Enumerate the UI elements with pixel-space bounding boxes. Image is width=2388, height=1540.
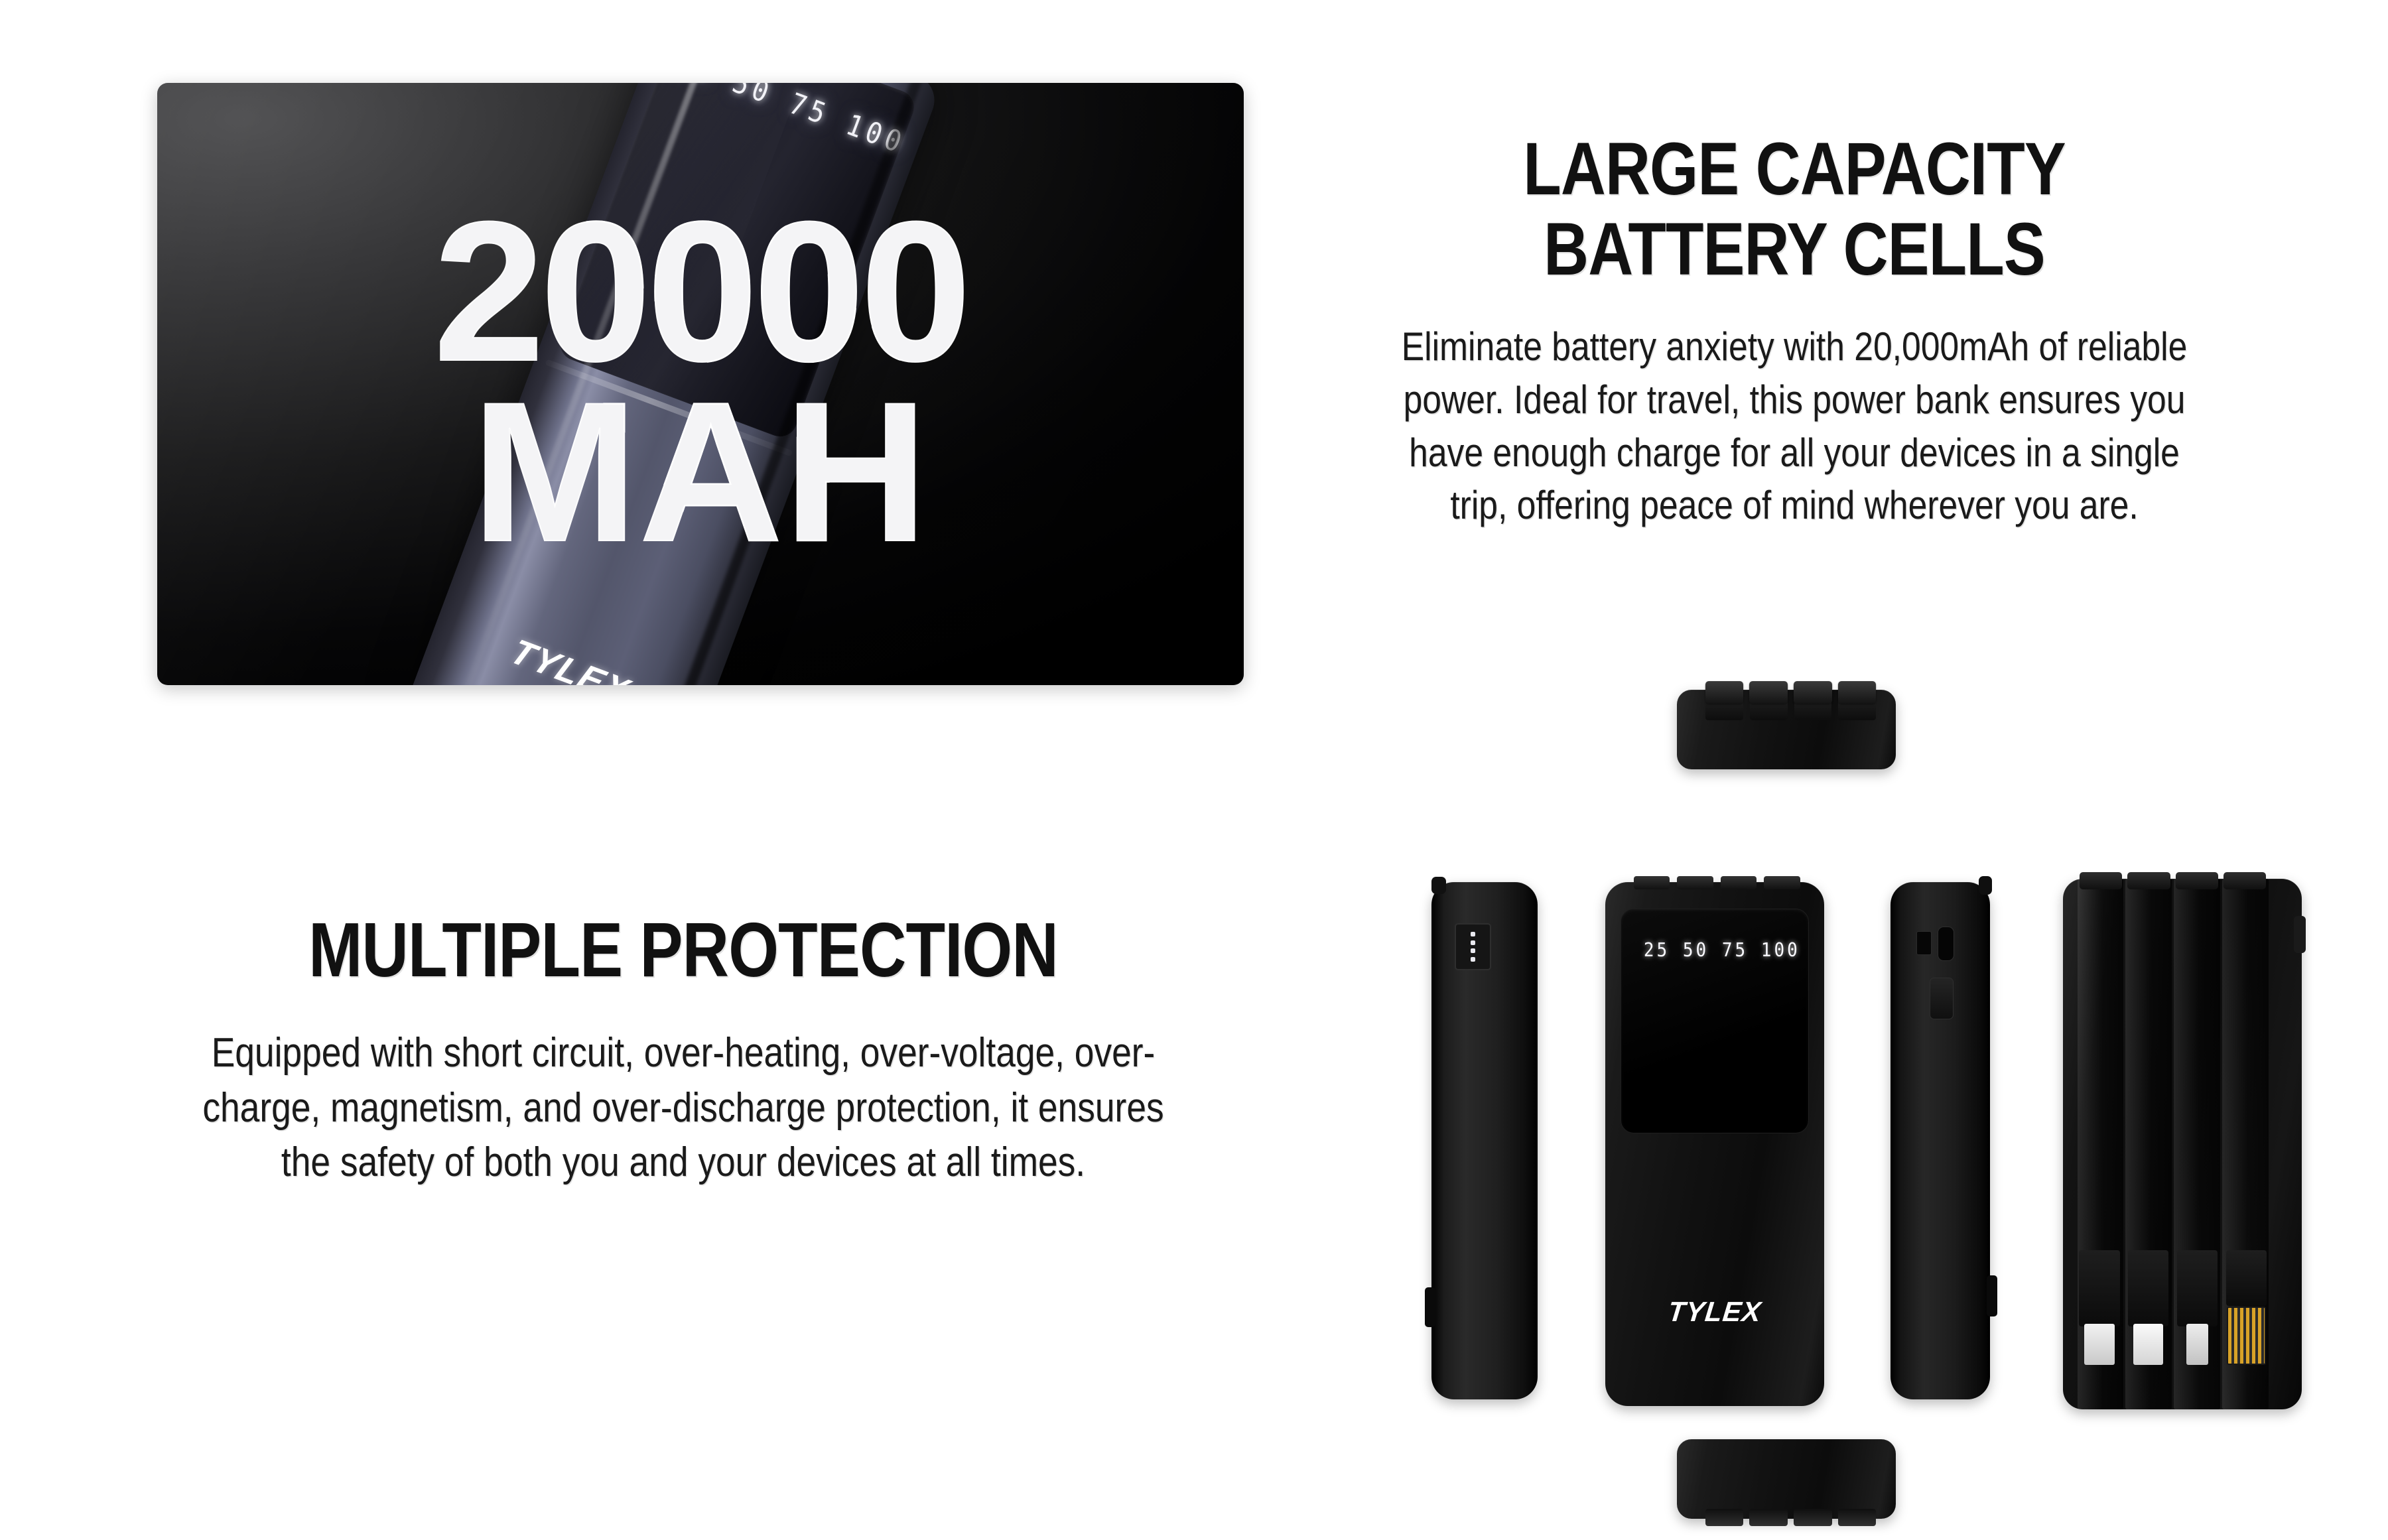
multiple-protection-body: Equipped with short circuit, over-heatin… bbox=[198, 1026, 1168, 1190]
power-button[interactable] bbox=[1930, 978, 1954, 1019]
back-view-clip bbox=[2294, 916, 2306, 953]
product-views-cluster: 25 50 75 100 TYLEX bbox=[1413, 690, 2342, 1519]
multiple-protection-section: MULTIPLE PROTECTION Equipped with short … bbox=[119, 909, 1247, 1190]
product-view-front: 25 50 75 100 TYLEX bbox=[1605, 882, 1824, 1406]
usb-c-port-icon bbox=[1938, 927, 1955, 960]
right-side-clip bbox=[1979, 876, 1992, 895]
multiple-protection-title: MULTIPLE PROTECTION bbox=[210, 909, 1157, 992]
back-view-top-tabs bbox=[2080, 872, 2266, 889]
large-capacity-body: Eliminate battery anxiety with 20,000mAh… bbox=[1386, 320, 2202, 532]
product-view-right-side bbox=[1890, 882, 1990, 1399]
front-battery-level-indicator: 25 50 75 100 bbox=[1644, 939, 1800, 961]
micro-usb-port-icon bbox=[1916, 931, 1932, 955]
large-capacity-section: LARGE CAPACITY BATTERY CELLS Eliminate b… bbox=[1320, 129, 2269, 532]
product-view-bottom bbox=[1677, 1439, 1896, 1519]
product-view-top bbox=[1677, 690, 1896, 769]
back-view-builtin-cables bbox=[2078, 1250, 2269, 1378]
bottom-view-shell bbox=[1677, 1439, 1896, 1519]
bottom-view-cable-tabs bbox=[1705, 1509, 1876, 1526]
left-side-clip bbox=[1431, 877, 1446, 894]
large-capacity-title-line1: LARGE CAPACITY bbox=[1396, 129, 2192, 210]
usb-c-cable-icon bbox=[2126, 1250, 2170, 1378]
left-side-cable-nub bbox=[1425, 1287, 1435, 1327]
front-brand-logo: TYLEX bbox=[1603, 1296, 1825, 1328]
usb-a-connector-icon bbox=[2224, 1250, 2269, 1378]
large-capacity-title: LARGE CAPACITY BATTERY CELLS bbox=[1396, 129, 2192, 290]
hero-capacity-card: 25 50 75 100 TYLEX 20000 20000 MAH MAH bbox=[157, 83, 1244, 685]
micro-usb-cable-icon bbox=[2175, 1250, 2220, 1378]
left-side-led-indicator bbox=[1455, 923, 1491, 970]
right-side-cable-nub bbox=[1987, 1275, 1997, 1316]
product-view-left-side bbox=[1431, 882, 1538, 1399]
lightning-cable-icon bbox=[2078, 1250, 2122, 1378]
large-capacity-title-line2: BATTERY CELLS bbox=[1396, 210, 2192, 290]
front-view-cable-tabs bbox=[1634, 876, 1800, 889]
front-view-display: 25 50 75 100 bbox=[1621, 909, 1809, 1134]
top-view-cable-tabs bbox=[1705, 681, 1876, 704]
product-view-back bbox=[2063, 879, 2302, 1409]
